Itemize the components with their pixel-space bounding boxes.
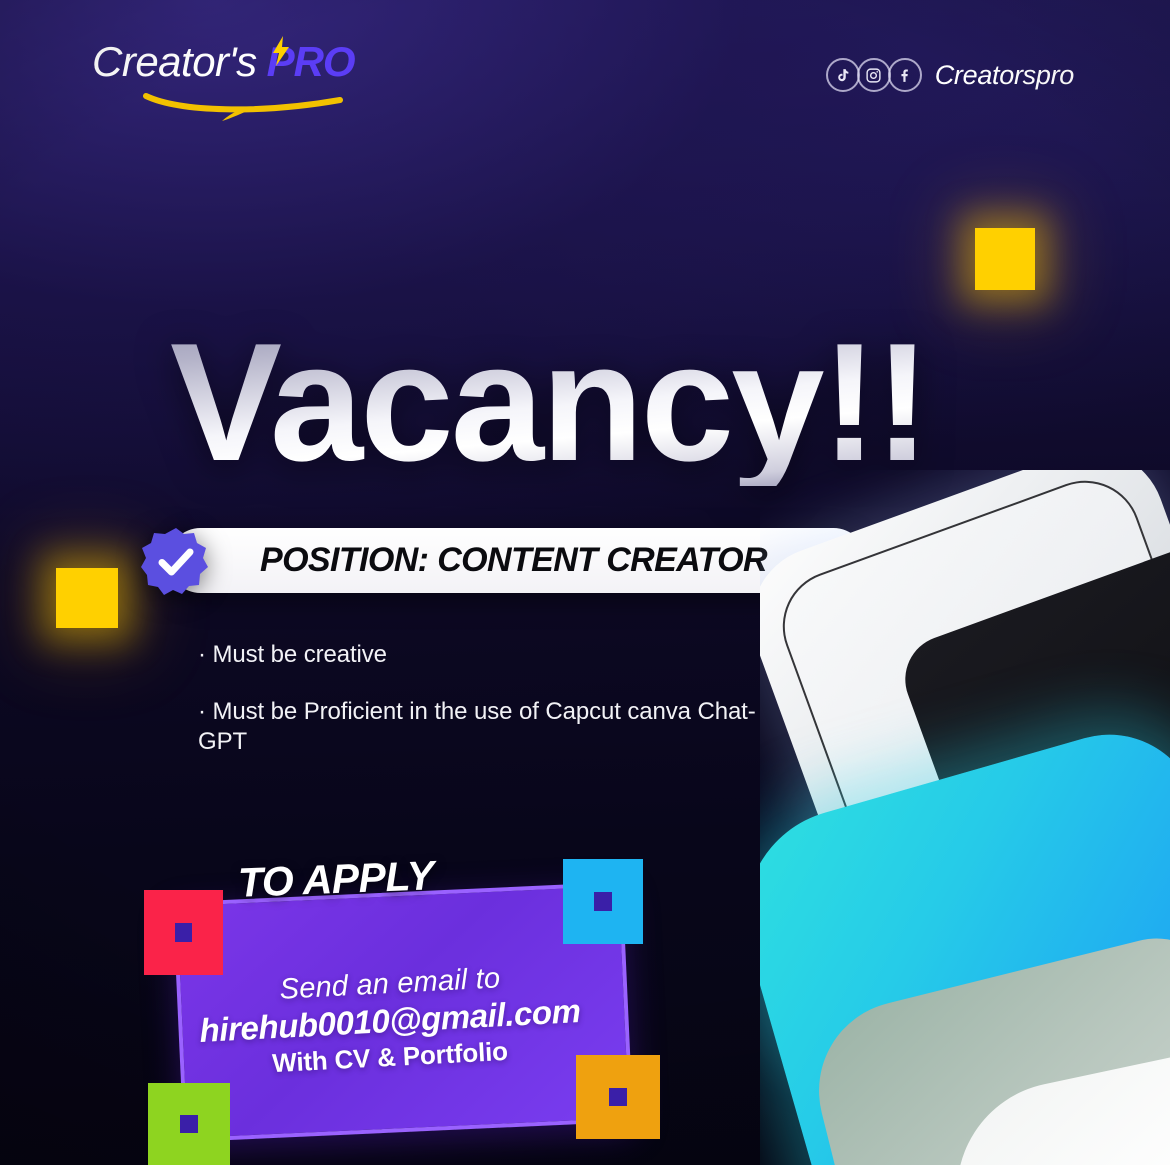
position-label: POSITION: CONTENT CREATOR <box>260 541 767 580</box>
requirement-item: · Must be creative <box>198 640 758 671</box>
logo-primary-text: Creator's <box>92 38 257 86</box>
brand-logo: Creator's PRO <box>92 38 355 86</box>
yellow-swoosh-underline-icon <box>140 82 360 122</box>
device-artwork <box>760 470 1170 1165</box>
yellow-glow-square-top-right <box>975 228 1035 290</box>
yellow-glow-square-left <box>56 568 118 628</box>
orange-square <box>576 1055 660 1139</box>
requirements-list: · Must be creative · Must be Proficient … <box>198 640 758 758</box>
lightning-bolt-icon <box>271 36 291 66</box>
red-square <box>144 890 223 975</box>
facebook-glyph <box>896 67 913 84</box>
page-title: Vacancy!! <box>170 318 927 486</box>
square-inner-dot <box>180 1115 198 1133</box>
verified-check-badge-icon <box>140 526 212 598</box>
social-links[interactable]: Creatorspro <box>826 58 1074 92</box>
square-inner-dot <box>175 923 192 942</box>
tiktok-glyph <box>834 67 851 84</box>
requirement-item: · Must be Proficient in the use of Capcu… <box>198 697 758 758</box>
apply-heading: TO APPLY <box>237 852 434 906</box>
vacancy-poster: Creator's PRO <box>0 0 1170 1165</box>
social-handle[interactable]: Creatorspro <box>935 60 1074 91</box>
facebook-icon[interactable] <box>888 58 922 92</box>
tiktok-icon[interactable] <box>826 58 860 92</box>
cyan-square <box>563 859 643 944</box>
square-inner-dot <box>594 892 612 911</box>
green-square <box>148 1083 230 1165</box>
instagram-icon[interactable] <box>857 58 891 92</box>
logo-secondary-text: PRO <box>267 38 355 86</box>
square-inner-dot <box>609 1088 627 1106</box>
instagram-glyph <box>865 67 882 84</box>
logo-wordmark: Creator's PRO <box>92 38 355 86</box>
